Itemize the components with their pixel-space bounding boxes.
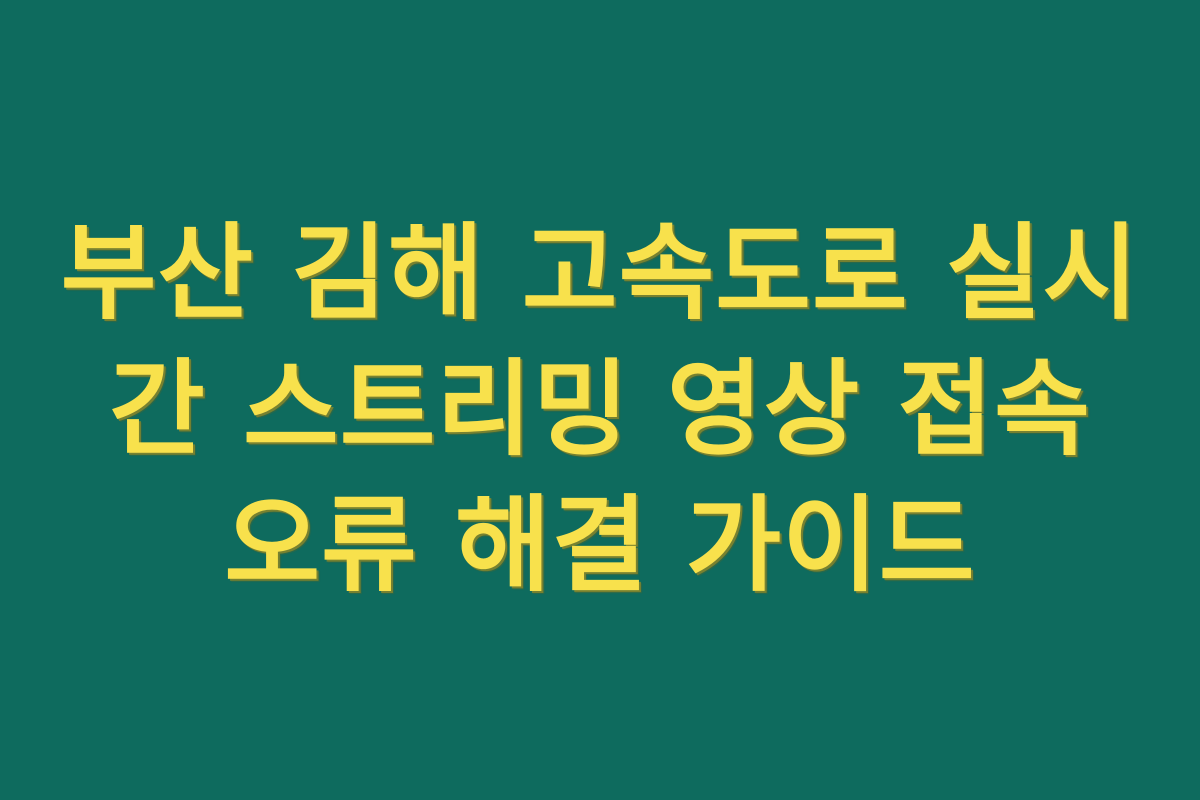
title-line-1: 부산 김해 고속도로 실시 [50, 205, 1150, 341]
title-line-2: 간 스트리밍 영상 접속 [50, 341, 1150, 477]
title-line-3: 오류 해결 가이드 [50, 477, 1150, 613]
page-title: 부산 김해 고속도로 실시 간 스트리밍 영상 접속 오류 해결 가이드 [50, 205, 1150, 613]
thumbnail-canvas: 부산 김해 고속도로 실시 간 스트리밍 영상 접속 오류 해결 가이드 [0, 0, 1200, 800]
